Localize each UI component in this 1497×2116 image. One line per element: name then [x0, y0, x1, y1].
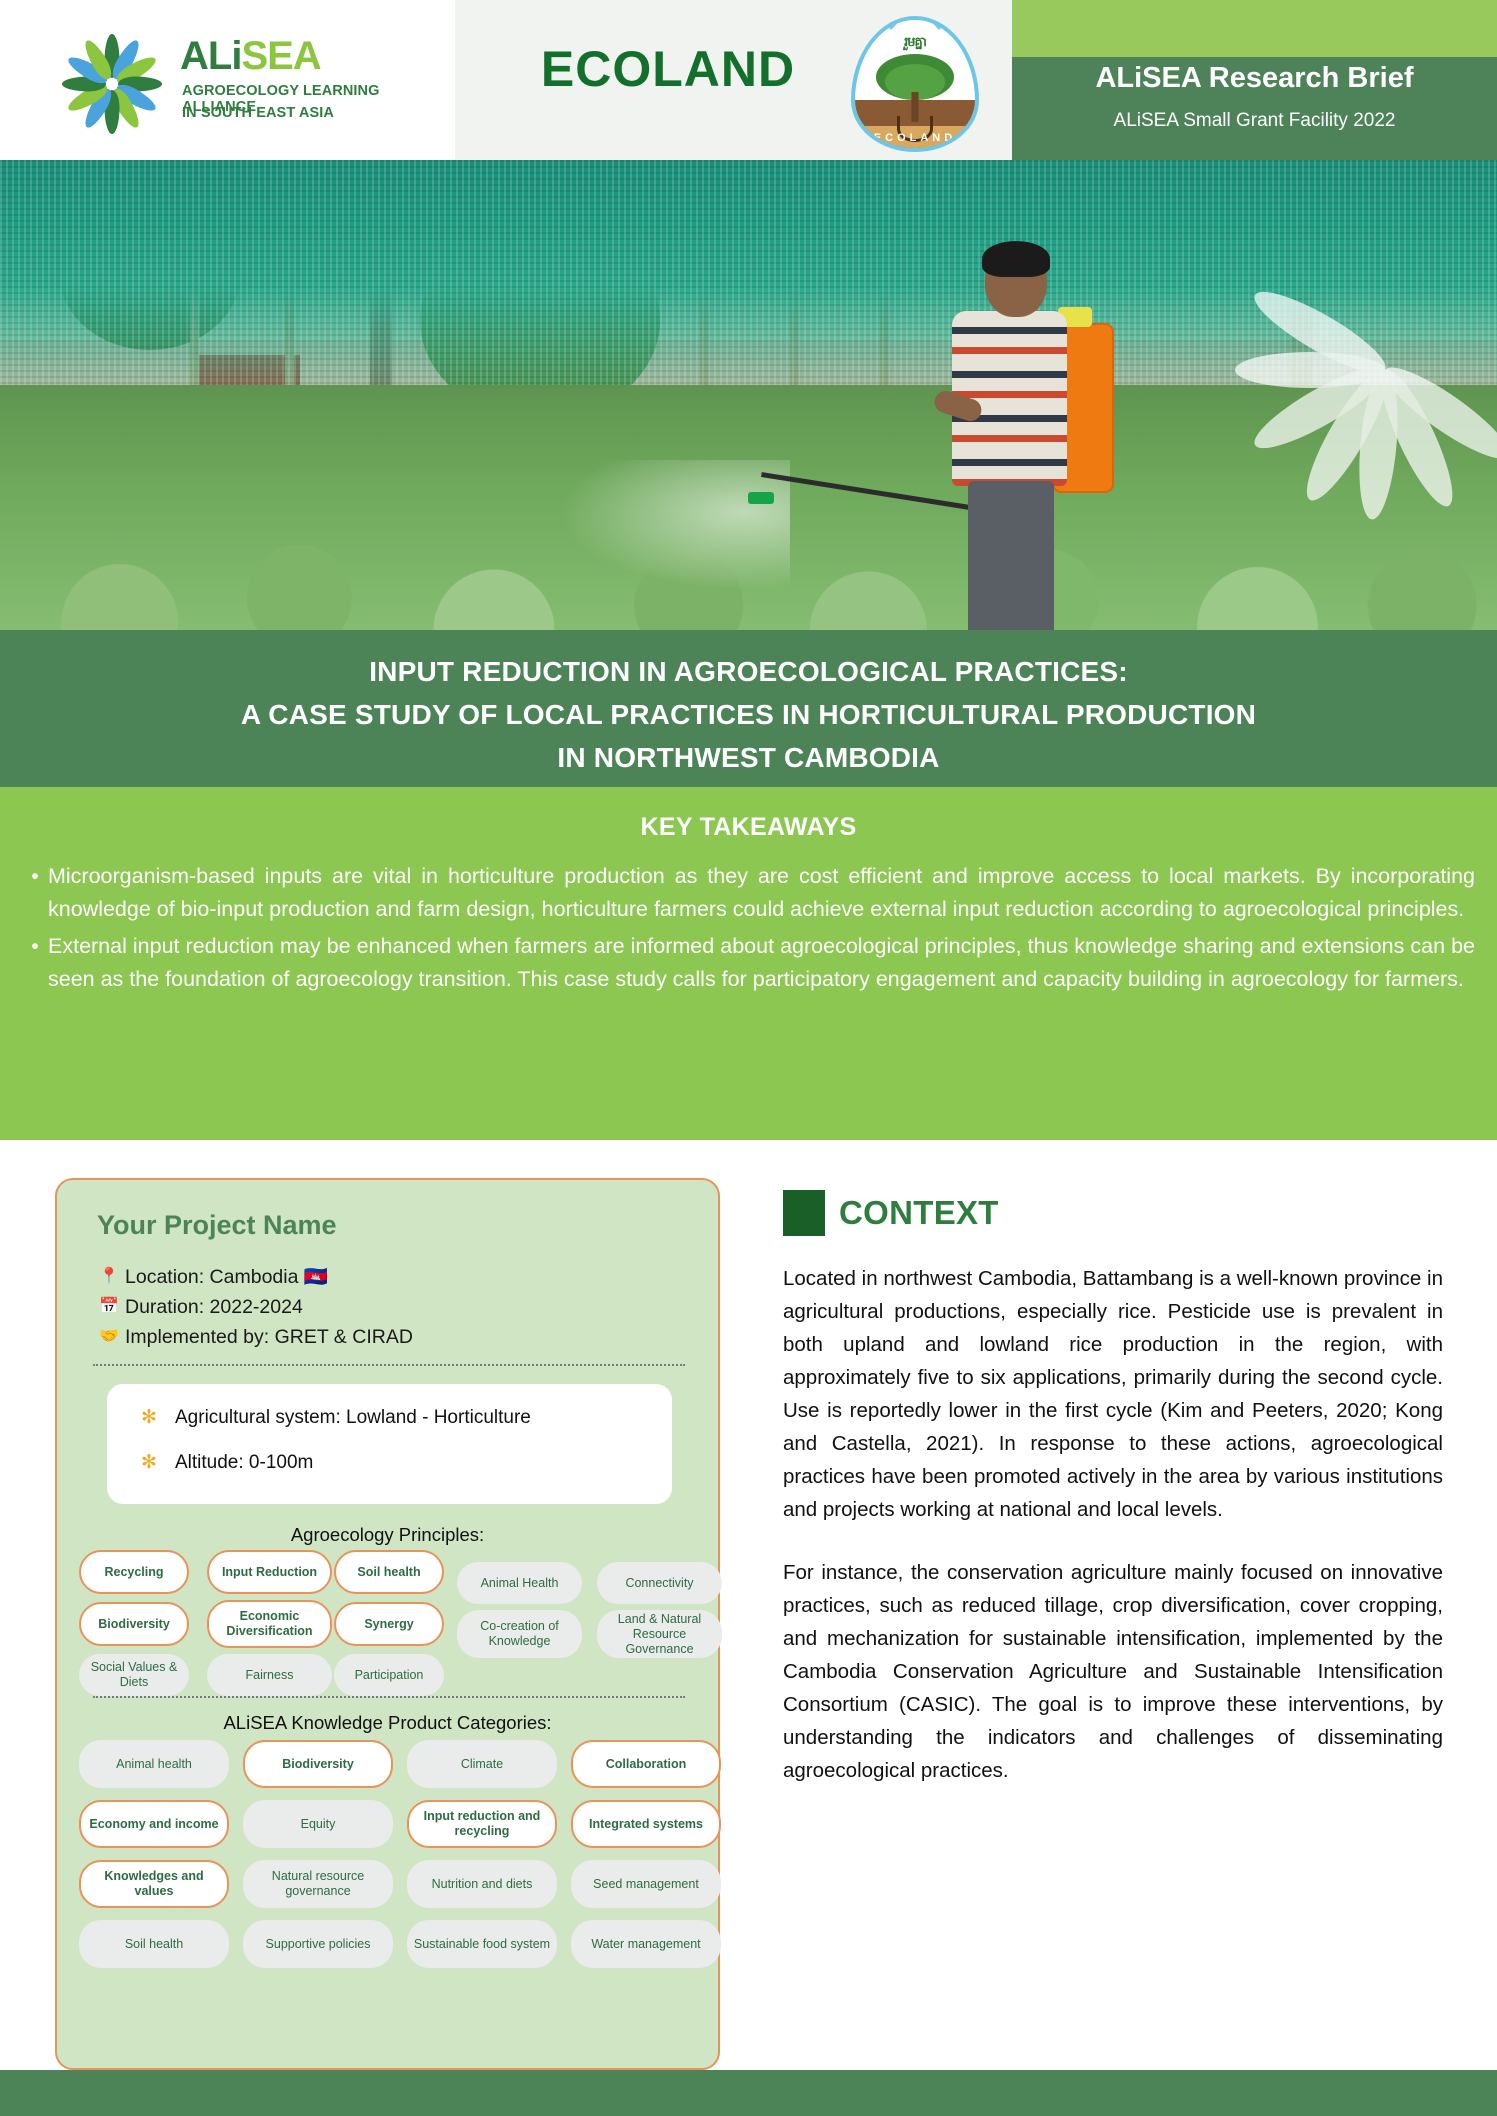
category-chip-label: Equity [301, 1817, 336, 1832]
card-divider-1 [93, 1364, 685, 1366]
category-chip[interactable]: Sustainable food system [407, 1920, 557, 1968]
principle-chip-label: Co-creation of Knowledge [462, 1619, 577, 1649]
brief-subtitle: ALiSEA Small Grant Facility 2022 [1012, 110, 1497, 132]
page-header: ALiSEA AGROECOLOGY LEARNING ALLIANCE IN … [0, 0, 1497, 165]
principle-chip[interactable]: Connectivity [597, 1562, 722, 1604]
principle-chip[interactable]: Input Reduction [207, 1550, 332, 1594]
calendar-icon: 📅 [93, 1292, 125, 1322]
principle-chip-label: Recycling [104, 1565, 163, 1580]
project-meta-text: Duration: 2022-2024 [125, 1292, 303, 1322]
key-takeaways-list: •Microorganism-based inputs are vital in… [22, 860, 1475, 996]
project-meta-row: 🤝Implemented by: GRET & CIRAD [93, 1322, 693, 1352]
research-brief-page: ALiSEA AGROECOLOGY LEARNING ALLIANCE IN … [0, 0, 1497, 2116]
photo-farmer [930, 245, 1120, 635]
category-chip-label: Input reduction and recycling [414, 1809, 550, 1839]
category-chip-label: Integrated systems [589, 1817, 703, 1832]
sun-flower-icon: ✻ [141, 1406, 175, 1429]
principle-chip-label: Soil health [357, 1565, 420, 1580]
category-chip-label: Collaboration [606, 1757, 687, 1772]
project-meta-row: 📍Location: Cambodia 🇰🇭 [93, 1262, 693, 1292]
principle-chip-label: Social Values & Diets [84, 1660, 184, 1690]
key-takeaway-item: •Microorganism-based inputs are vital in… [22, 860, 1475, 926]
photo-spray-nozzle [748, 492, 774, 504]
category-chip[interactable]: Knowledges and values [79, 1860, 229, 1908]
card-divider-2 [93, 1696, 685, 1698]
category-chip-label: Biodiversity [282, 1757, 354, 1772]
photo-farmer-hair [982, 241, 1050, 277]
category-chip[interactable]: Integrated systems [571, 1800, 721, 1848]
category-chip[interactable]: Equity [243, 1800, 393, 1848]
location-pin-icon: 📍 [93, 1262, 125, 1292]
key-takeaway-text: External input reduction may be enhanced… [48, 930, 1475, 996]
category-chip[interactable]: Biodiversity [243, 1740, 393, 1788]
page-footer-band [0, 2070, 1497, 2116]
key-takeaways-heading: KEY TAKEAWAYS [0, 787, 1497, 842]
bullet-icon: • [22, 930, 48, 996]
category-chip-label: Animal health [116, 1757, 192, 1772]
sun-flower-icon: ✻ [141, 1451, 175, 1474]
principle-chip[interactable]: Soil health [334, 1550, 444, 1594]
category-chip-label: Natural resource governance [248, 1869, 388, 1899]
principle-chip[interactable]: Biodiversity [79, 1602, 189, 1646]
category-chip-label: Supportive policies [266, 1937, 371, 1952]
alisea-logo: ALiSEA AGROECOLOGY LEARNING ALLIANCE IN … [58, 28, 428, 138]
project-meta-text: Implemented by: GRET & CIRAD [125, 1322, 413, 1352]
categories-label: ALiSEA Knowledge Product Categories: [57, 1712, 718, 1734]
drop-khmer-text: រួមគ្នា [855, 34, 975, 53]
category-chip-label: Climate [461, 1757, 503, 1772]
photo-spray-mist [560, 460, 790, 590]
project-meta-text: Location: Cambodia 🇰🇭 [125, 1262, 328, 1292]
category-chip[interactable]: Soil health [79, 1920, 229, 1968]
principle-chip[interactable]: Land & Natural Resource Governance [597, 1610, 722, 1658]
category-chip-label: Sustainable food system [414, 1937, 550, 1952]
key-takeaways-section: KEY TAKEAWAYS •Microorganism-based input… [0, 787, 1497, 1140]
alisea-wordmark: ALiSEA [180, 34, 321, 79]
category-chip[interactable]: Supportive policies [243, 1920, 393, 1968]
category-chip-label: Knowledges and values [86, 1869, 222, 1899]
page-title-line3: IN NORTHWEST CAMBODIA [0, 736, 1497, 779]
alisea-tagline-line2: IN SOUTH EAST ASIA [182, 105, 334, 121]
category-chip-label: Nutrition and diets [432, 1877, 533, 1892]
category-chip[interactable]: Natural resource governance [243, 1860, 393, 1908]
context-section: CONTEXT Located in northwest Cambodia, B… [783, 1190, 1443, 1787]
category-chip-label: Soil health [125, 1937, 183, 1952]
principle-chip-label: Biodiversity [98, 1617, 170, 1632]
principle-chip[interactable]: Participation [334, 1654, 444, 1696]
ecoland-wordmark: ECOLAND [498, 40, 838, 98]
category-chip-label: Water management [591, 1937, 700, 1952]
principle-chip[interactable]: Economic Diversification [207, 1600, 332, 1648]
alisea-wordmark-part1: ALi [180, 34, 241, 78]
context-paragraph-2: For instance, the conservation agricultu… [783, 1556, 1443, 1787]
page-title-line2: A CASE STUDY OF LOCAL PRACTICES IN HORTI… [0, 693, 1497, 736]
context-header: CONTEXT [783, 1190, 1443, 1236]
category-chip[interactable]: Seed management [571, 1860, 721, 1908]
header-green-strip [1012, 0, 1497, 57]
project-meta-list: 📍Location: Cambodia 🇰🇭📅Duration: 2022-20… [93, 1262, 693, 1352]
context-marker-square [783, 1190, 825, 1236]
alisea-flower-icon [58, 30, 166, 138]
project-info-card: Your Project Name 📍Location: Cambodia 🇰🇭… [55, 1178, 720, 2070]
ecoland-drop-logo: រួមគ្នា ECOLAND [851, 16, 979, 152]
bullet-icon: • [22, 860, 48, 926]
principle-chip[interactable]: Recycling [79, 1550, 189, 1594]
principle-chip-label: Synergy [364, 1617, 413, 1632]
document-title-band: INPUT REDUCTION IN AGROECOLOGICAL PRACTI… [0, 630, 1497, 787]
principle-chip-label: Connectivity [625, 1576, 693, 1591]
agricultural-system-card: ✻Agricultural system: Lowland - Horticul… [107, 1384, 672, 1504]
category-chip[interactable]: Animal health [79, 1740, 229, 1788]
category-chip[interactable]: Input reduction and recycling [407, 1800, 557, 1848]
brief-title: ALiSEA Research Brief [1012, 62, 1497, 95]
principle-chip[interactable]: Social Values & Diets [79, 1654, 189, 1696]
agricultural-system-row: ✻Altitude: 0-100m [141, 1451, 672, 1474]
principle-chip[interactable]: Fairness [207, 1654, 332, 1696]
category-chip[interactable]: Climate [407, 1740, 557, 1788]
agricultural-system-row: ✻Agricultural system: Lowland - Horticul… [141, 1406, 672, 1429]
category-chip-label: Seed management [593, 1877, 699, 1892]
project-name: Your Project Name [97, 1210, 337, 1241]
category-chip[interactable]: Economy and income [79, 1800, 229, 1848]
agricultural-system-text: Agricultural system: Lowland - Horticult… [175, 1407, 531, 1429]
principle-chip-label: Fairness [246, 1668, 294, 1683]
principle-chip-label: Land & Natural Resource Governance [602, 1612, 717, 1657]
drop-wordmark: ECOLAND [855, 132, 975, 144]
principle-chip-label: Input Reduction [222, 1565, 317, 1580]
principle-chip-label: Economic Diversification [214, 1609, 325, 1639]
page-title-line1: INPUT REDUCTION IN AGROECOLOGICAL PRACTI… [0, 650, 1497, 693]
principle-chip[interactable]: Synergy [334, 1602, 444, 1646]
principles-label: Agroecology Principles: [57, 1524, 718, 1546]
photo-farmer-trousers [968, 481, 1054, 635]
principle-chip-label: Participation [355, 1668, 424, 1683]
context-paragraph-1: Located in northwest Cambodia, Battamban… [783, 1262, 1443, 1526]
key-takeaway-item: •External input reduction may be enhance… [22, 930, 1475, 996]
category-chip-label: Economy and income [89, 1817, 218, 1832]
principle-chip[interactable]: Animal Health [457, 1562, 582, 1604]
hero-photo [0, 160, 1497, 635]
category-chip[interactable]: Collaboration [571, 1740, 721, 1788]
project-meta-row: 📅Duration: 2022-2024 [93, 1292, 693, 1322]
agricultural-system-text: Altitude: 0-100m [175, 1452, 313, 1474]
alisea-wordmark-part2: SEA [241, 34, 320, 78]
handshake-icon: 🤝 [93, 1322, 125, 1352]
principle-chip[interactable]: Co-creation of Knowledge [457, 1610, 582, 1658]
category-chip[interactable]: Water management [571, 1920, 721, 1968]
key-takeaway-text: Microorganism-based inputs are vital in … [48, 860, 1475, 926]
decorative-flower-overlay [1187, 160, 1497, 620]
category-chip[interactable]: Nutrition and diets [407, 1860, 557, 1908]
context-title: CONTEXT [839, 1194, 999, 1232]
principle-chip-label: Animal Health [481, 1576, 559, 1591]
